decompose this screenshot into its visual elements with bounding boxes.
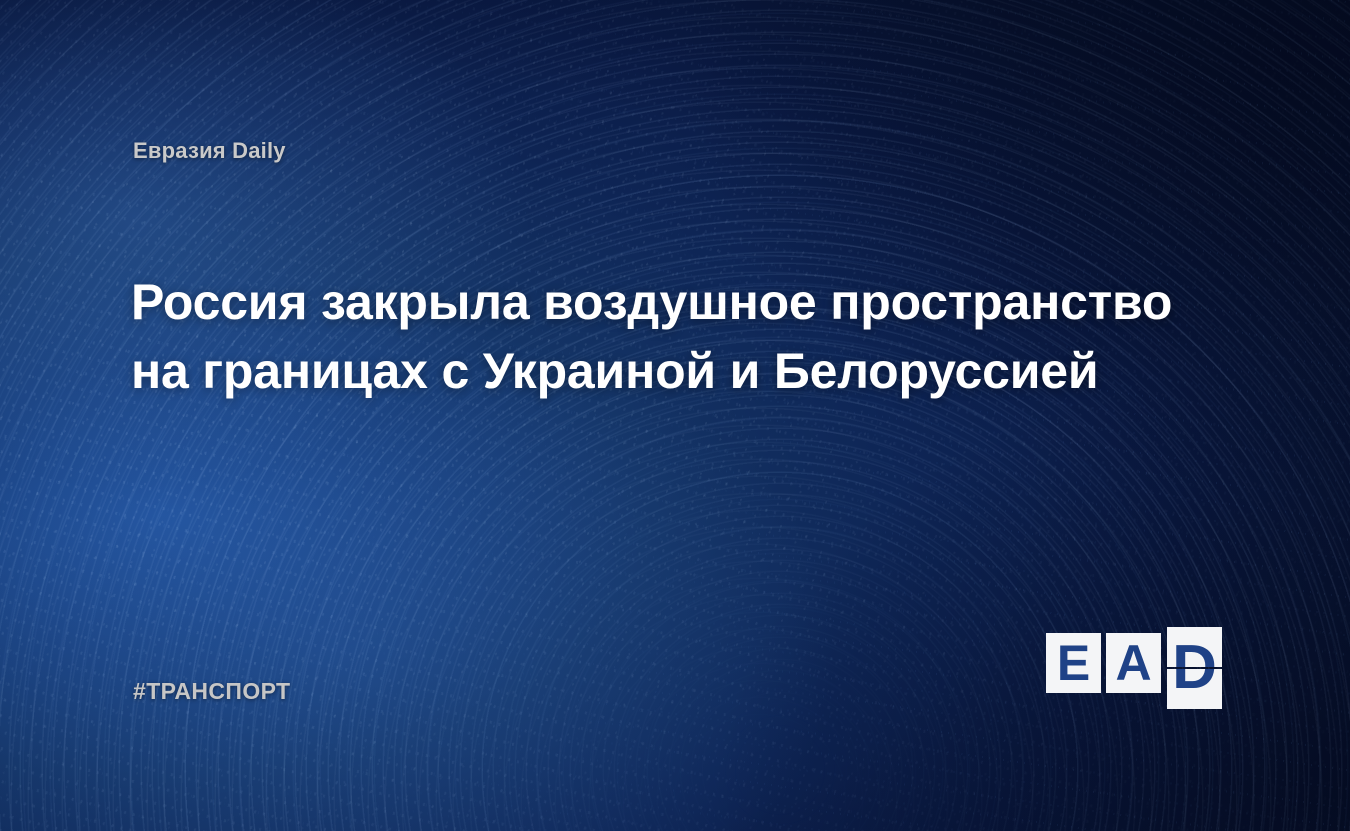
- logo-letter-d-bottom-half: D: [1167, 669, 1222, 709]
- logo-letter-e: E: [1046, 633, 1101, 693]
- news-card: Евразия Daily Россия закрыла воздушное п…: [0, 0, 1350, 831]
- logo-letter-d-upper: D: [1167, 627, 1222, 667]
- brand-name: Евразия Daily: [133, 138, 286, 164]
- logo-tile-a: A: [1106, 633, 1161, 693]
- logo-letter-a: A: [1106, 633, 1161, 693]
- logo-letter-d-lower: D: [1167, 669, 1222, 709]
- eadaily-logo: E A D D: [1046, 625, 1224, 707]
- logo-tile-d-bottom: D: [1167, 669, 1222, 709]
- headline: Россия закрыла воздушное пространство на…: [131, 268, 1201, 405]
- logo-letter-d-top-half: D: [1167, 627, 1222, 667]
- hashtag-transport[interactable]: #ТРАНСПОРТ: [133, 678, 291, 705]
- card-content: Евразия Daily Россия закрыла воздушное п…: [0, 0, 1350, 831]
- logo-tile-e: E: [1046, 633, 1101, 693]
- logo-tile-d-top: D: [1167, 627, 1222, 667]
